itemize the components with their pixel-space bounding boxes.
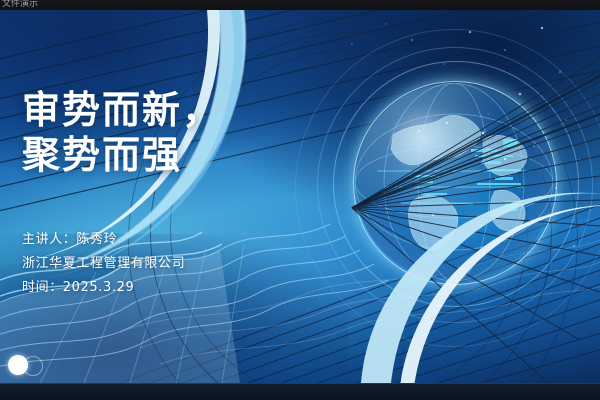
- speaker-line: 主讲人：陈秀玲: [22, 228, 185, 252]
- slide-meta-block: 主讲人：陈秀玲 浙江华夏工程管理有限公司 时间：2025.3.29: [22, 228, 185, 300]
- window-title: 文件演示: [2, 0, 38, 9]
- slide-canvas[interactable]: 审势而新， 聚势而强 主讲人：陈秀玲 浙江华夏工程管理有限公司 时间：2025.…: [0, 10, 600, 383]
- company-line: 浙江华夏工程管理有限公司: [22, 252, 185, 276]
- pointer-ring-icon: [23, 356, 43, 376]
- window-bottombar[interactable]: [0, 383, 600, 400]
- presentation-window: 文件演示: [0, 0, 600, 400]
- date-line: 时间：2025.3.29: [22, 276, 185, 300]
- window-titlebar[interactable]: 文件演示: [0, 0, 600, 10]
- slide-title: 审势而新， 聚势而强: [22, 88, 222, 178]
